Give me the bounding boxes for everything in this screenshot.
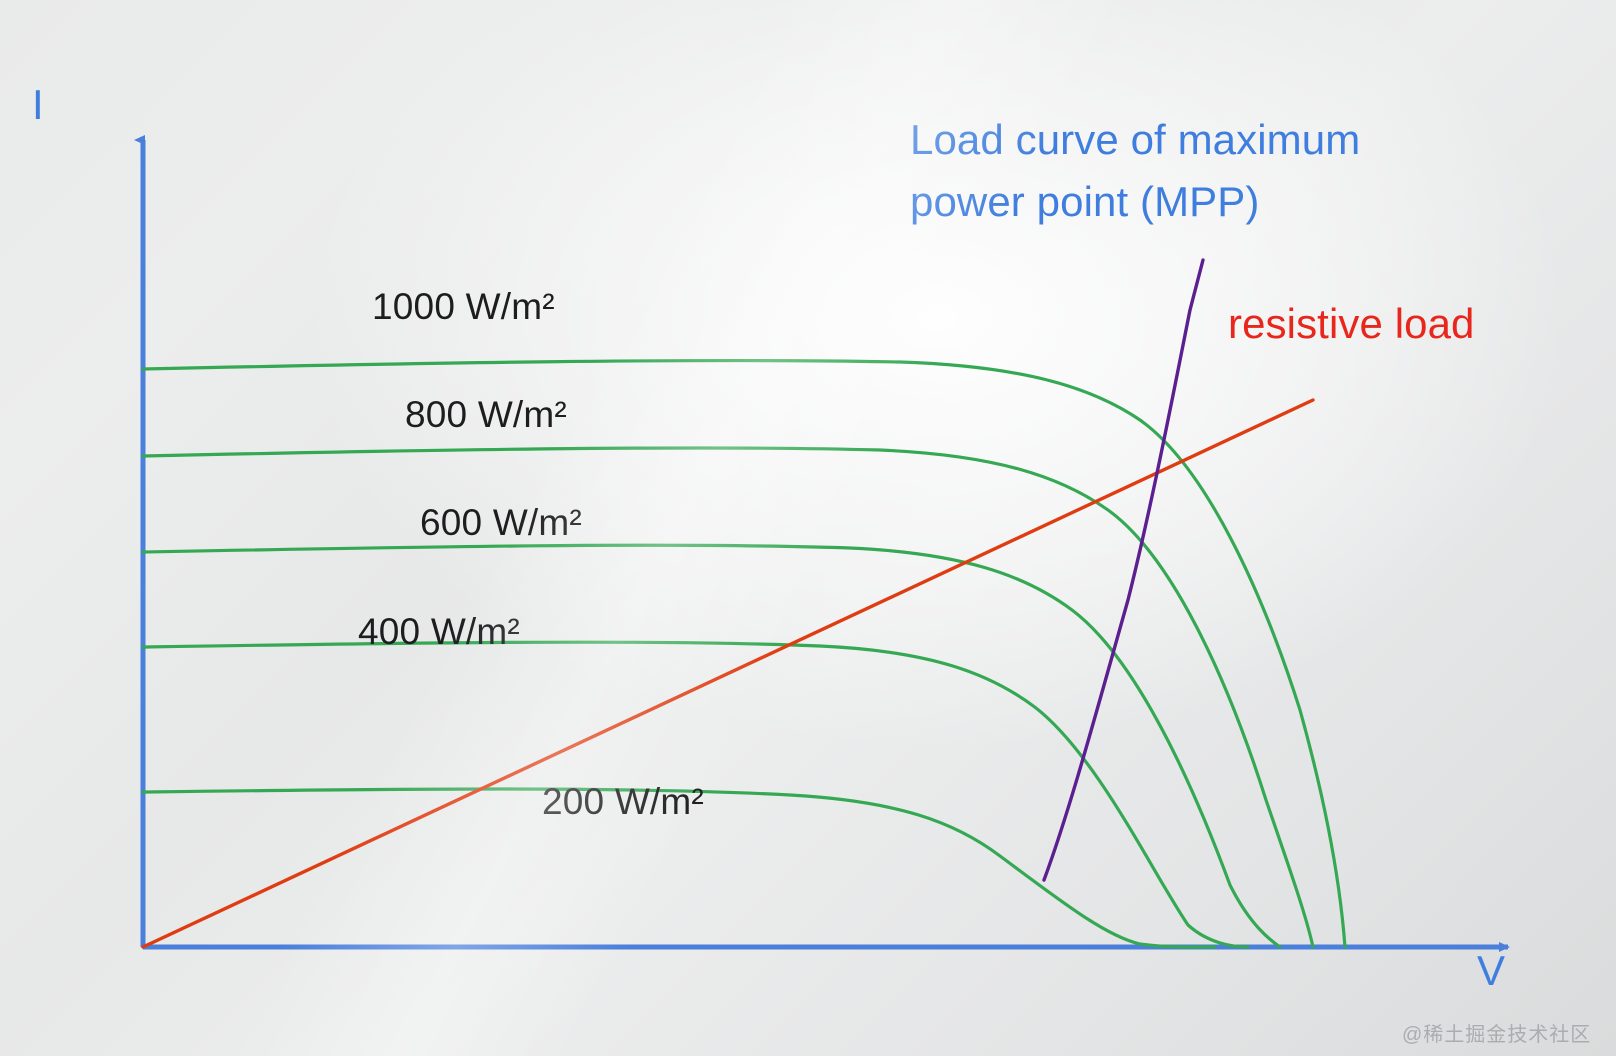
iv-curves [143,361,1345,948]
y-axis-label: I [32,80,44,130]
resistive-load-line [143,400,1313,947]
irradiance-label-1000: 1000 W/m² [372,285,555,329]
irradiance-label-600: 600 W/m² [420,501,582,545]
mpp-callout-line-2: power point (MPP) [910,177,1260,227]
irradiance-label-200: 200 W/m² [542,780,704,824]
irradiance-label-800: 800 W/m² [405,393,567,437]
watermark-text: @稀土掘金技术社区 [1402,1018,1591,1047]
mpp-locus-curve [1044,260,1203,880]
irradiance-label-400: 400 W/m² [358,610,520,654]
iv-curve-800 [143,448,1313,947]
iv-curve-plot [0,0,1616,1056]
iv-curve-600 [143,545,1280,947]
x-axis-label: V [1477,946,1506,996]
mpp-callout-line-1: Load curve of maximum [910,115,1360,165]
chart-canvas: I V 1000 W/m² 800 W/m² 600 W/m² 400 W/m²… [0,0,1616,1056]
axis-group [143,140,1508,947]
resistive-load-callout: resistive load [1228,299,1475,349]
